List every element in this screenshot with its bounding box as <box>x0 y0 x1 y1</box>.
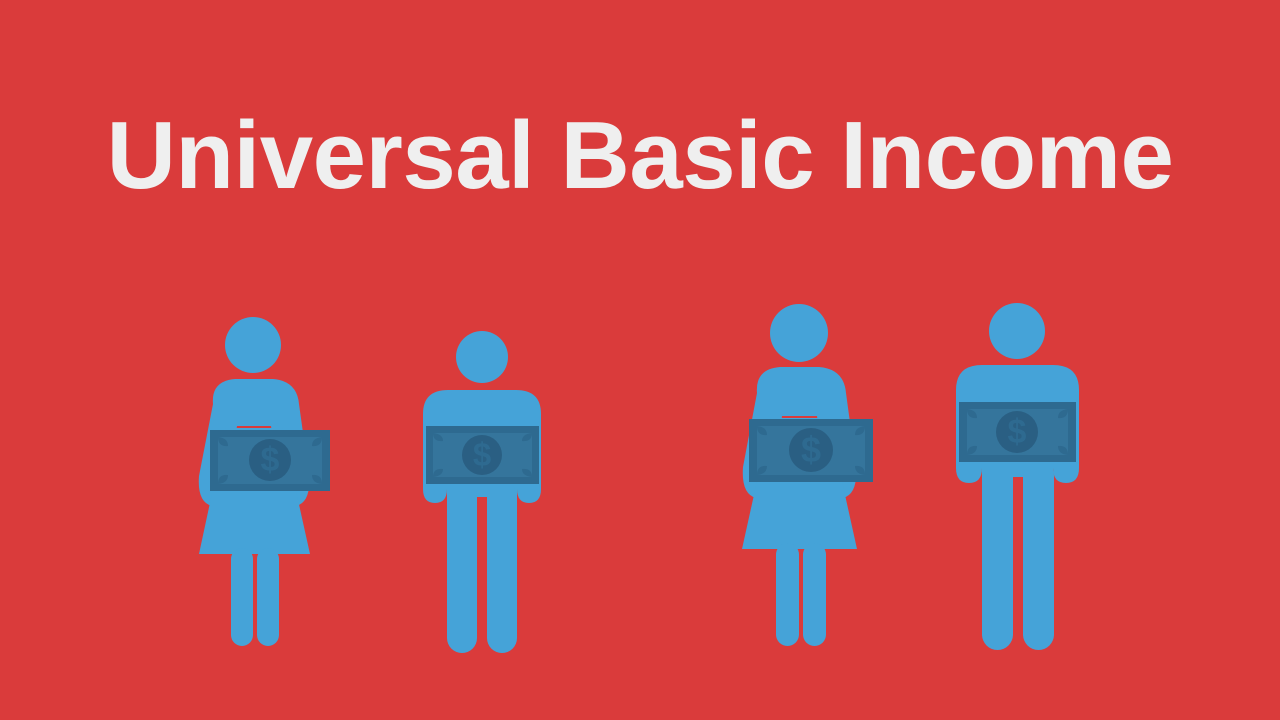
head-icon <box>989 303 1045 359</box>
banknote-group: $ <box>426 426 539 484</box>
head-icon <box>770 304 828 362</box>
figure-woman-left-outer: $ <box>183 316 357 648</box>
banknote-dollar-symbol: $ <box>1008 413 1027 451</box>
figure-man-right-outer: $ <box>948 302 1088 652</box>
slide-canvas: Universal Basic Income $ <box>0 0 1280 720</box>
banknote-dollar-symbol: $ <box>801 429 821 470</box>
right-leg-shape <box>1023 460 1054 650</box>
right-leg-shape <box>487 481 517 653</box>
left-leg-shape <box>231 548 253 646</box>
banknote-group: $ <box>210 430 330 491</box>
left-leg-shape <box>447 481 477 653</box>
left-leg-shape <box>776 543 799 646</box>
head-icon <box>225 317 281 373</box>
banknote-dollar-symbol: $ <box>473 436 491 473</box>
right-leg-shape <box>257 548 279 646</box>
figure-woman-right-inner: $ <box>713 303 890 648</box>
head-icon <box>456 331 508 383</box>
banknote-group: $ <box>749 419 873 482</box>
man-body-shape <box>423 331 541 653</box>
left-leg-shape <box>982 460 1013 650</box>
page-title: Universal Basic Income <box>0 104 1280 208</box>
banknote-dollar-symbol: $ <box>261 441 280 479</box>
figure-man-left-inner: $ <box>415 331 550 654</box>
man-body-shape <box>956 303 1079 650</box>
right-leg-shape <box>803 543 826 646</box>
banknote-group: $ <box>959 402 1076 462</box>
